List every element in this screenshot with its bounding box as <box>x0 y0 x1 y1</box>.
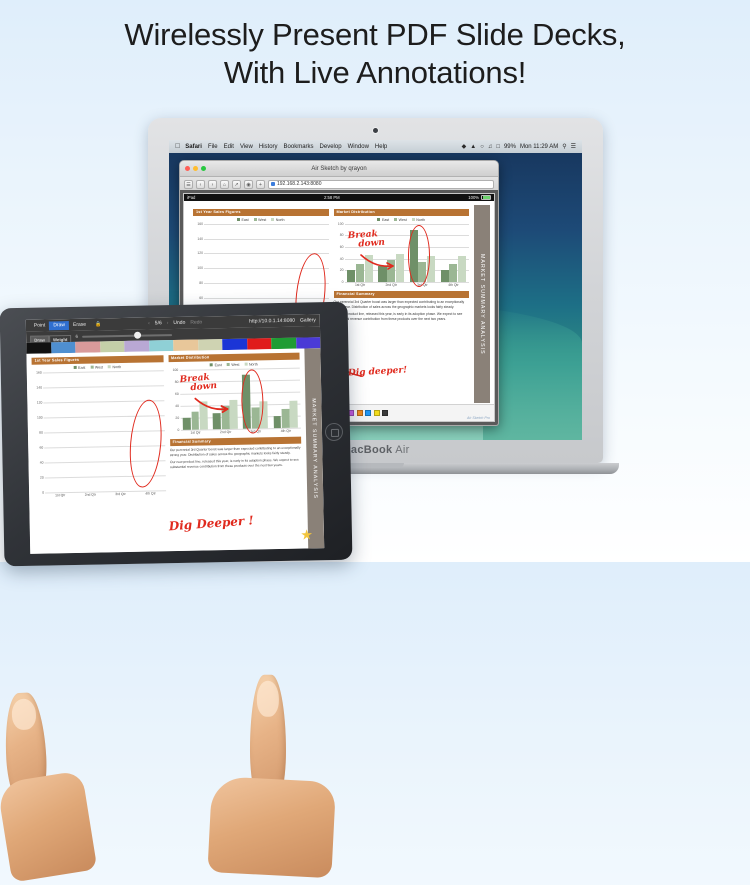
legend-item-east: East <box>237 218 249 222</box>
x-tick: 3rd Qtr <box>105 492 135 497</box>
legend-swatch-north <box>108 366 111 369</box>
tab-erase[interactable]: Erase <box>69 320 90 329</box>
right-palm <box>207 776 336 878</box>
macos-menubar[interactable]:  Safari File Edit View History Bookmark… <box>169 140 582 153</box>
summary-paragraph-1: Our perennial 3rd Quarter boost was larg… <box>334 300 470 310</box>
color-swatch[interactable] <box>382 410 388 416</box>
right-hand <box>200 672 350 874</box>
legend-swatch-north <box>412 218 415 221</box>
page-indicator: 5/6 <box>155 320 162 326</box>
legend-swatch-west <box>394 218 397 221</box>
fingernail <box>257 681 279 717</box>
ipad-screen[interactable]: Point Draw Erase 🔒 ‹ 5/6 › Undo Redo htt… <box>26 314 324 554</box>
panel-title-summary: Financial Summary <box>334 291 470 298</box>
ipad-plot-distribution: 020406080100 <box>168 367 301 430</box>
menu-item-history[interactable]: History <box>259 144 278 150</box>
legend-label-north: North <box>249 362 258 366</box>
undo-button[interactable]: Undo <box>173 320 185 326</box>
legend-swatch-north <box>244 363 247 366</box>
bar-east <box>347 270 355 282</box>
status-battery-text: 100% <box>468 195 479 200</box>
y-tick: 20 <box>340 268 344 272</box>
legend-item-west: West <box>90 365 103 369</box>
headline-line-1: Wirelessly Present PDF Slide Decks, <box>124 17 625 52</box>
y-tick: 80 <box>340 233 344 237</box>
gridline <box>345 282 470 283</box>
legend-item-east: East <box>210 363 222 367</box>
bar-west <box>221 406 229 429</box>
color-swatch[interactable] <box>75 341 100 352</box>
y-tick: 160 <box>197 222 203 226</box>
legend-swatch-east <box>210 364 213 367</box>
stroke-width-slider[interactable] <box>82 334 172 338</box>
next-page-icon[interactable]: › <box>167 320 169 326</box>
battery-icon <box>481 195 491 201</box>
color-swatch[interactable] <box>365 410 371 416</box>
legend-swatch-east <box>74 366 77 369</box>
legend-item-west: West <box>227 363 240 367</box>
legend-swatch-east <box>377 218 380 221</box>
ipad-summary-paragraph-2: Our new product line, released this year… <box>170 457 302 470</box>
legend-label-east: East <box>215 363 222 367</box>
panel-title-distribution: Market Distribution <box>334 209 470 216</box>
lock-icon[interactable]: 🔒 <box>95 321 101 327</box>
legend-label-east: East <box>78 366 85 370</box>
ipad-panel-title-sales: 1st Year Sales Figures <box>32 355 164 364</box>
wifi-icon[interactable]: ▲ <box>470 144 476 150</box>
x-tick: 2nd Qtr <box>376 283 407 287</box>
y-tick: 0 <box>177 428 179 432</box>
legend-label-north: North <box>112 365 121 369</box>
webcam-icon <box>373 128 378 133</box>
y-tick: 100 <box>197 266 203 270</box>
legend-swatch-north <box>271 218 274 221</box>
y-tick: 40 <box>175 404 179 408</box>
bar-east <box>441 270 449 282</box>
page-title: Wirelessly Present PDF Slide Decks, With… <box>0 16 750 92</box>
color-swatch[interactable] <box>51 342 76 353</box>
display-icon[interactable]: □ <box>496 144 500 150</box>
ipad-device: Point Draw Erase 🔒 ‹ 5/6 › Undo Redo htt… <box>0 302 352 567</box>
ipad-bars-distribution <box>179 367 301 429</box>
y-tick: 20 <box>40 475 44 479</box>
x-tick: 4th Qtr <box>135 491 165 496</box>
legend-distribution: East West North <box>334 218 470 222</box>
menu-item-view[interactable]: View <box>240 144 253 150</box>
forward-icon[interactable]: › <box>208 180 217 189</box>
menu-item-help[interactable]: Help <box>375 144 387 150</box>
legend-item-north: North <box>412 218 425 222</box>
y-tick: 60 <box>199 296 203 300</box>
menubar-status-area: ◆ ▲ ○ ♫ □ 99% Mon 11:29 AM ⚲ ☰ <box>462 144 578 150</box>
bar-west <box>449 264 457 282</box>
bar-east <box>183 417 191 429</box>
status-carrier: iPad <box>187 195 195 200</box>
bluetooth-icon[interactable]: ◆ <box>462 144 467 150</box>
bar-west <box>282 409 290 428</box>
summary-paragraph-2: Our new product line, released this year… <box>334 312 470 322</box>
bar-group <box>179 369 210 430</box>
x-tick: 1st Qtr <box>45 493 75 498</box>
y-tick: 60 <box>175 392 179 396</box>
y-axis-distribution: 020406080100 <box>334 224 345 282</box>
y-tick: 120 <box>197 251 203 255</box>
ipad-plot-sales: 020406080100120140160 <box>32 370 166 493</box>
ipad-annotation-ellipse-distribution <box>241 369 264 434</box>
bar-group <box>438 224 469 282</box>
x-tick: 2nd Qtr <box>75 492 105 497</box>
sidebar-icon[interactable]: ☰ <box>184 180 193 189</box>
bar-group <box>345 224 376 282</box>
x-tick: 4th Qtr <box>271 428 301 433</box>
window-title: Air Sketch by qrayon <box>180 166 498 172</box>
bar-north <box>458 256 466 282</box>
y-tick: 100 <box>338 222 344 226</box>
ipad-slide-sidebar-label: Market Summary Analysis <box>310 398 318 499</box>
fingernail <box>11 698 37 730</box>
legend-item-west: West <box>394 218 407 222</box>
search-icon[interactable]: ⚲ <box>562 144 566 150</box>
y-tick: 0 <box>42 490 44 494</box>
menu-item-bookmarks[interactable]: Bookmarks <box>284 144 314 150</box>
x-tick: 2nd Qtr <box>211 430 241 435</box>
ipad-chart-panel-sales: 1st Year Sales Figures East West North 0… <box>32 355 166 497</box>
x-tick: 4th Qtr <box>438 283 469 287</box>
menu-item-safari[interactable]: Safari <box>185 144 202 150</box>
bar-east <box>273 416 281 428</box>
back-icon[interactable]: ‹ <box>196 180 205 189</box>
url-text: 192.168.2.143:8080 <box>277 181 322 187</box>
color-swatch[interactable] <box>198 339 223 350</box>
ipad-panel-title-distribution: Market Distribution <box>168 353 300 362</box>
color-swatch[interactable] <box>296 337 321 348</box>
gallery-button[interactable]: Gallery <box>300 317 316 323</box>
bar-group <box>376 224 407 282</box>
color-swatch[interactable] <box>247 338 272 349</box>
annotation-dig-deeper: Dig deeper! <box>348 366 408 379</box>
slider-thumb[interactable] <box>134 332 141 339</box>
legend-swatch-west <box>227 363 230 366</box>
macbook-notch <box>348 463 404 468</box>
bar-west <box>387 260 395 282</box>
x-tick: 1st Qtr <box>345 283 376 287</box>
bar-north <box>365 255 373 282</box>
reader-icon[interactable]: ◉ <box>244 180 253 189</box>
legend-item-north: North <box>108 365 121 369</box>
y-tick: 0 <box>342 280 344 284</box>
bar-east <box>378 266 386 282</box>
airsketch-brand: Air Sketch Pro <box>467 416 490 420</box>
battery-percent: 99% <box>504 144 516 150</box>
legend-label-west: West <box>95 365 103 369</box>
slider-value: 6 <box>75 334 78 339</box>
home-button[interactable] <box>325 423 343 441</box>
y-tick: 100 <box>37 415 43 419</box>
headline-line-2: With Live Annotations! <box>0 54 750 92</box>
y-tick: 60 <box>340 245 344 249</box>
y-tick: 40 <box>340 257 344 261</box>
y-tick: 60 <box>39 445 43 449</box>
left-hand <box>0 683 108 875</box>
model-variant: Air <box>392 444 409 456</box>
color-swatch[interactable] <box>222 339 247 350</box>
plot-area-distribution: 020406080100 <box>334 224 470 282</box>
left-palm <box>0 770 97 882</box>
menu-item-develop[interactable]: Develop <box>320 144 342 150</box>
bar-north <box>396 254 404 282</box>
menu-item-window[interactable]: Window <box>348 144 369 150</box>
home-icon[interactable]: ⌂ <box>220 180 229 189</box>
bar-east <box>213 413 221 429</box>
color-swatch[interactable] <box>149 340 174 351</box>
legend-label-north: North <box>416 218 425 222</box>
menu-item-edit[interactable]: Edit <box>224 144 234 150</box>
promo-stage: Wirelessly Present PDF Slide Decks, With… <box>0 0 750 562</box>
bar-north <box>230 400 238 429</box>
site-icon <box>271 182 275 186</box>
share-icon[interactable]: ↗ <box>232 180 241 189</box>
y-tick: 140 <box>197 237 203 241</box>
bar-group <box>43 372 75 493</box>
status-time: 2:58 PM <box>324 195 340 200</box>
legend-label-east: East <box>382 218 389 222</box>
time-machine-icon[interactable]: ○ <box>480 144 484 150</box>
y-tick: 100 <box>173 368 179 372</box>
url-bar[interactable]: 192.168.2.143:8080 <box>268 180 494 189</box>
y-tick: 80 <box>39 430 43 434</box>
volume-icon[interactable]: ♫ <box>488 144 493 150</box>
star-icon[interactable]: ★ <box>300 526 313 543</box>
ipad-slide-columns: 1st Year Sales Figures East West North 0… <box>32 353 303 498</box>
bar-west <box>191 411 199 429</box>
prev-page-icon[interactable]: ‹ <box>148 320 150 326</box>
y-tick: 120 <box>37 400 43 404</box>
panel-title-sales: 1st Year Sales Figures <box>193 209 329 216</box>
x-axis-distribution: 1st Qtr2nd Qtr3rd Qtr4th Qtr <box>345 283 470 287</box>
color-swatch[interactable] <box>357 410 363 416</box>
y-tick: 160 <box>36 370 42 374</box>
ipad-summary-paragraph-1: Our perennial 3rd Quarter boost was larg… <box>170 445 302 458</box>
safari-titlebar[interactable]: Air Sketch by qrayon <box>180 161 498 177</box>
notification-center-icon[interactable]: ☰ <box>571 144 576 150</box>
status-battery: 100% <box>468 195 491 201</box>
bar-group <box>209 369 240 430</box>
ipad-slide-content: 1st Year Sales Figures East West North 0… <box>26 349 308 554</box>
x-tick: 1st Qtr <box>180 430 210 435</box>
add-tab-icon[interactable]: + <box>256 180 265 189</box>
color-swatch[interactable] <box>100 341 125 352</box>
toolbar-spacer-2 <box>207 322 244 323</box>
y-tick: 140 <box>36 385 42 389</box>
share-url[interactable]: http://10.0.1.14:8080 <box>249 318 295 325</box>
color-swatch[interactable] <box>124 341 149 352</box>
slide-sidebar-label: Market Summary Analysis <box>479 254 485 355</box>
bar-group <box>73 371 105 492</box>
legend-label-west: West <box>231 363 239 367</box>
bar-west <box>356 264 364 281</box>
legend-label-east: East <box>241 218 248 222</box>
legend-label-west: West <box>399 218 407 222</box>
y-tick: 20 <box>175 416 179 420</box>
color-swatch[interactable] <box>173 340 198 351</box>
color-swatch[interactable] <box>271 338 296 349</box>
bars-distribution <box>345 224 470 282</box>
legend-label-west: West <box>258 218 266 222</box>
legend-item-east: East <box>74 366 86 370</box>
ipad-panel-title-summary: Financial Summary <box>170 436 302 445</box>
legend-swatch-west <box>90 366 93 369</box>
y-tick: 80 <box>175 380 179 384</box>
slide-sidebar: Market Summary Analysis <box>474 205 490 403</box>
color-swatch[interactable] <box>374 410 380 416</box>
bar-north <box>199 402 207 430</box>
ipad-chart-panel-distribution: Market Distribution East West North 0204… <box>168 353 302 495</box>
legend-item-east: East <box>377 218 389 222</box>
y-tick: 80 <box>199 281 203 285</box>
toolbar-spacer-3 <box>176 332 316 335</box>
ipad-status-bar-mirror: iPad 2:58 PM 100% <box>184 194 494 201</box>
y-tick: 40 <box>40 460 44 464</box>
bar-north <box>290 401 298 428</box>
legend-item-north: North <box>271 218 284 222</box>
legend-item-north: North <box>244 362 257 366</box>
menubar-clock[interactable]: Mon 11:29 AM <box>520 144 558 150</box>
chart-panel-distribution: Market Distribution East West North <box>334 209 470 347</box>
color-swatch[interactable] <box>26 342 51 353</box>
legend-swatch-west <box>254 218 257 221</box>
legend-label-north: North <box>276 218 285 222</box>
toolbar-spacer <box>106 324 143 325</box>
legend-sales: East West North <box>193 218 329 222</box>
bar-group <box>270 367 301 428</box>
legend-swatch-east <box>237 218 240 221</box>
redo-button[interactable]: Redo <box>190 319 202 325</box>
apple-menu-icon[interactable]:  <box>175 143 180 150</box>
ipad-body: Point Draw Erase 🔒 ‹ 5/6 › Undo Redo htt… <box>0 302 352 567</box>
legend-item-west: West <box>254 218 267 222</box>
ipad-slide-canvas[interactable]: 1st Year Sales Figures East West North 0… <box>26 348 324 554</box>
ipad-annotation-dig-deeper: Dig Deeper ! <box>168 513 254 533</box>
menu-item-file[interactable]: File <box>208 144 218 150</box>
